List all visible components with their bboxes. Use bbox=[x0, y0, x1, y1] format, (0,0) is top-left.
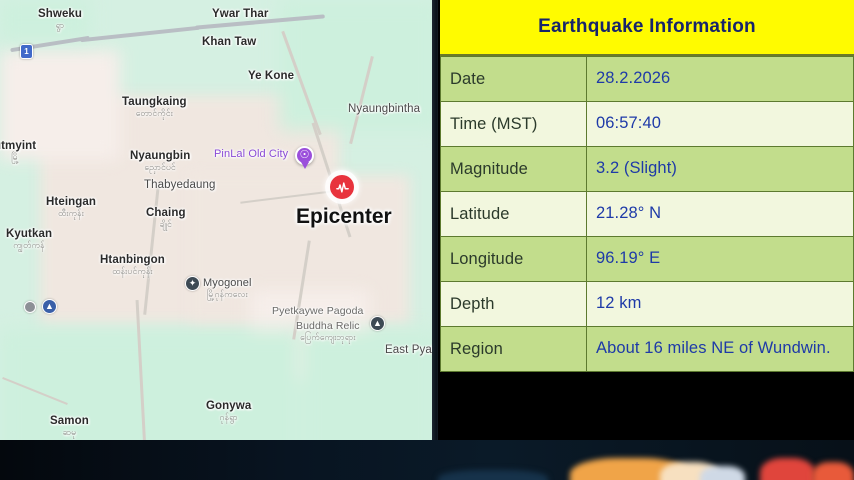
label-native: ကျွတ်ကန် bbox=[6, 240, 52, 253]
label-native: တောင်ကိုင်း bbox=[122, 108, 187, 121]
label-native: ဆမု bbox=[50, 427, 89, 440]
map-label-nyaungbintha: Nyaungbintha bbox=[348, 103, 420, 115]
label-text: Samon bbox=[50, 415, 89, 427]
table-row: Date 28.2.2026 bbox=[441, 57, 854, 102]
map-label-thabyedaung: Thabyedaung bbox=[144, 179, 215, 191]
label-native: ညှောင်ပင် bbox=[130, 162, 190, 175]
label-text: Khan Taw bbox=[202, 36, 256, 48]
epicenter-marker[interactable] bbox=[325, 170, 359, 204]
page-title: Earthquake Information bbox=[538, 16, 756, 38]
map-label-kyutkan: Kyutkan ကျွတ်ကန် bbox=[6, 228, 52, 253]
video-blob bbox=[812, 462, 854, 480]
label-text: Htanbingon bbox=[100, 254, 165, 266]
map-label-samon: Samon ဆမု bbox=[50, 415, 89, 440]
map-label-gonywa: Gonywa ဂုန်ရွာ bbox=[206, 400, 251, 425]
video-blob bbox=[438, 470, 548, 480]
map-label-chaing: Chaing ချိုင် bbox=[146, 207, 186, 232]
row-value-date: 28.2.2026 bbox=[587, 57, 854, 102]
label-text: Buddha Relic bbox=[296, 320, 360, 332]
map-label-shweku: Shweku ရွာ bbox=[38, 8, 82, 33]
label-native: မြို့ဂုန်ကလေး bbox=[203, 289, 252, 302]
label-text: Ywar Thar bbox=[212, 8, 269, 20]
label-text: PinLal Old City bbox=[214, 148, 288, 160]
row-label-depth: Depth bbox=[441, 282, 587, 327]
row-value-region: About 16 miles NE of Wundwin. bbox=[587, 327, 854, 372]
map-label-khan-taw: Khan Taw bbox=[202, 36, 256, 48]
label-text: Taungkaing bbox=[122, 96, 187, 108]
map-panel[interactable]: 1 Shweku ရွာ Ywar Thar Khan Taw Ye Kone … bbox=[0, 0, 432, 460]
row-label-magnitude: Magnitude bbox=[441, 147, 587, 192]
map-label-east-pyatk: East Pyatk bbox=[385, 344, 432, 356]
video-underlay bbox=[0, 440, 854, 480]
table-row: Latitude 21.28° N bbox=[441, 192, 854, 237]
screen-root: 1 Shweku ရွာ Ywar Thar Khan Taw Ye Kone … bbox=[0, 0, 854, 480]
map-label-ywar-thar: Ywar Thar bbox=[212, 8, 269, 20]
table-row: Time (MST) 06:57:40 bbox=[441, 102, 854, 147]
row-value-magnitude: 3.2 (Slight) bbox=[587, 147, 854, 192]
label-native: ရွာ bbox=[38, 20, 82, 33]
label-text: Thabyedaung bbox=[144, 179, 215, 191]
map-label-buddha-relic: Buddha Relic ပြေက်ကျေးဘုရား bbox=[296, 320, 360, 345]
highway-shield-icon: 1 bbox=[20, 44, 33, 59]
label-text: Kyutkan bbox=[6, 228, 52, 240]
label-native: မြို့ bbox=[0, 152, 36, 165]
map-label-ye-kone: Ye Kone bbox=[248, 70, 294, 82]
label-text: Pyetkaywe Pagoda bbox=[272, 305, 364, 317]
row-value-time: 06:57:40 bbox=[587, 102, 854, 147]
highway-shield-number: 1 bbox=[24, 48, 28, 56]
poi-marker-secondary[interactable] bbox=[24, 301, 36, 313]
poi-marker-landmark[interactable]: ▲ bbox=[42, 299, 57, 314]
label-text: Shweku bbox=[38, 8, 82, 20]
label-text: utmyint bbox=[0, 140, 36, 152]
map-label-utmyint: utmyint မြို့ bbox=[0, 140, 36, 165]
info-title-bar: Earthquake Information bbox=[440, 0, 854, 56]
map-label-hteingan: Hteingan ထီးကုန်း bbox=[46, 196, 96, 221]
map-label-pinlal-old-city: PinLal Old City bbox=[214, 148, 288, 160]
label-text: Myogonel bbox=[203, 277, 252, 289]
row-value-depth: 12 km bbox=[587, 282, 854, 327]
earthquake-info-panel: Earthquake Information Date 28.2.2026 Ti… bbox=[440, 0, 854, 446]
map-label-htanbingon: Htanbingon ထန်းပင်ကုန်း bbox=[100, 254, 165, 279]
label-native: ချိုင် bbox=[146, 219, 186, 232]
table-row: Magnitude 3.2 (Slight) bbox=[441, 147, 854, 192]
label-text: Ye Kone bbox=[248, 70, 294, 82]
map-label-myogonel: Myogonel မြို့ဂုန်ကလေး bbox=[203, 277, 252, 302]
label-text: Nyaungbin bbox=[130, 150, 190, 162]
label-text: Chaing bbox=[146, 207, 186, 219]
video-blob bbox=[700, 466, 745, 480]
row-value-longitude: 96.19° E bbox=[587, 237, 854, 282]
label-text: Nyaungbintha bbox=[348, 103, 420, 115]
label-text: Gonywa bbox=[206, 400, 251, 412]
table-row: Region About 16 miles NE of Wundwin. bbox=[441, 327, 854, 372]
epicenter-icon bbox=[330, 175, 354, 199]
poi-marker-pyetkaywe-pagoda[interactable]: ▲ bbox=[370, 316, 385, 331]
earthquake-info-table: Date 28.2.2026 Time (MST) 06:57:40 Magni… bbox=[440, 56, 854, 372]
map-label-taungkaing: Taungkaing တောင်ကိုင်း bbox=[122, 96, 187, 121]
label-native: ထီးကုန်း bbox=[46, 208, 96, 221]
label-text: Hteingan bbox=[46, 196, 96, 208]
map-label-pyetkaywe-pagoda: Pyetkaywe Pagoda bbox=[272, 305, 364, 317]
video-blob bbox=[760, 458, 815, 480]
row-label-latitude: Latitude bbox=[441, 192, 587, 237]
label-native: ဂုန်ရွာ bbox=[206, 412, 251, 425]
poi-marker-myogonel[interactable]: ✦ bbox=[185, 276, 200, 291]
row-label-region: Region bbox=[441, 327, 587, 372]
label-native: ပြေက်ကျေးဘုရား bbox=[296, 332, 360, 345]
label-text: East Pyatk bbox=[385, 344, 432, 356]
row-label-time: Time (MST) bbox=[441, 102, 587, 147]
row-label-longitude: Longitude bbox=[441, 237, 587, 282]
table-row: Depth 12 km bbox=[441, 282, 854, 327]
poi-marker-pinlal-old-city[interactable]: ☉ bbox=[295, 146, 314, 165]
map-label-nyaungbin: Nyaungbin ညှောင်ပင် bbox=[130, 150, 190, 175]
table-row: Longitude 96.19° E bbox=[441, 237, 854, 282]
epicenter-label: Epicenter bbox=[296, 205, 392, 229]
row-value-latitude: 21.28° N bbox=[587, 192, 854, 237]
label-native: ထန်းပင်ကုန်း bbox=[100, 266, 165, 279]
row-label-date: Date bbox=[441, 57, 587, 102]
